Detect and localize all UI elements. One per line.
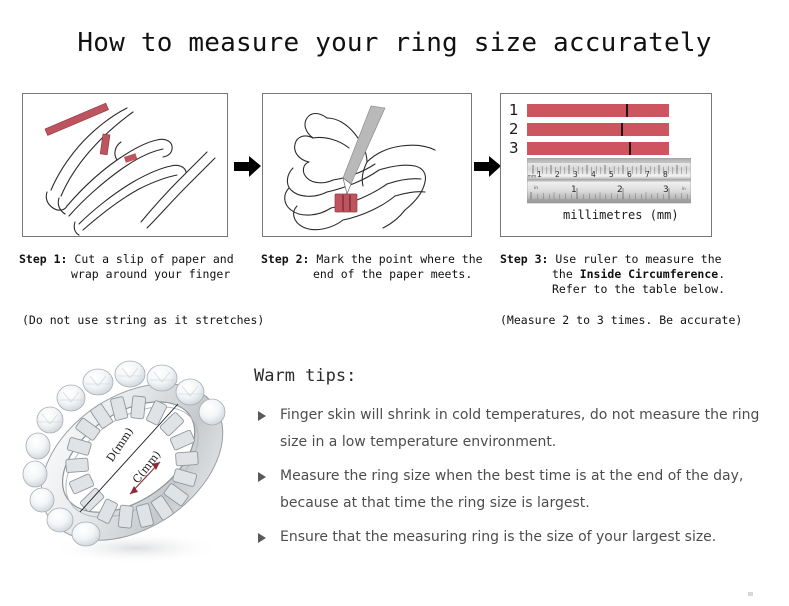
step-1-lead: Step 1: [19,252,67,266]
warm-tips-heading: Warm tips: [254,366,356,386]
millimetres-caption: millimetres (mm) [563,208,679,222]
strip-number-3: 3 [509,139,519,157]
diamond-eternity-ring-icon: placeholder [18,352,246,578]
svg-text:2: 2 [617,185,623,195]
step-3-line-1: Use ruler to measure the [548,252,721,266]
strip-mark-3 [629,142,631,155]
step-3-emphasis: Inside Circumference [580,267,718,281]
svg-text:mm: mm [528,175,537,180]
step-2-illustration-panel [262,93,472,237]
svg-text:4: 4 [591,170,596,179]
tip-text: Ensure that the measuring ring is the si… [280,529,716,545]
tip-text: Finger skin will shrink in cold temperat… [280,407,759,450]
hand-with-pen-icon [263,94,471,236]
ring-diagram: placeholder D(mm) C(mm) [18,352,246,578]
svg-text:3: 3 [663,185,669,195]
strip-mark-1 [626,104,628,117]
step-3-illustration-panel: 1 2 3 [500,93,712,237]
strip-bar-3 [527,142,669,155]
step-3-note: (Measure 2 to 3 times. Be accurate) [500,313,742,327]
step-2-caption: Step 2: Mark the point where theend of t… [261,252,483,282]
step-3-lead: Step 3: [500,252,548,266]
svg-text:8: 8 [663,170,668,179]
step-3-caption: Step 3: Use ruler to measure thethe Insi… [500,252,725,297]
strip-bar-2 [527,123,669,136]
step-1-note: (Do not use string as it stretches) [22,313,264,327]
measured-strip-2: 2 [509,123,669,136]
corner-artifact [748,592,753,596]
step-1-line-2: wrap around your finger [19,267,234,282]
step-1-line-1: Cut a slip of paper and [67,252,233,266]
svg-text:6: 6 [627,170,632,179]
step-2-line-1: Mark the point where the [309,252,482,266]
step-3-line-2-suffix: . [718,267,725,281]
strip-mark-2 [621,123,623,136]
svg-text:5: 5 [609,170,614,179]
strip-number-1: 1 [509,101,519,119]
tip-text: Measure the ring size when the best time… [280,468,743,511]
svg-text:7: 7 [645,170,650,179]
strip-number-2: 2 [509,120,519,138]
step-1-illustration-panel [22,93,228,237]
infographic-page: How to measure your ring size accurately [0,0,789,606]
warm-tips-list: Finger skin will shrink in cold temperat… [256,402,776,558]
tip-item: Ensure that the measuring ring is the si… [256,524,776,551]
svg-text:1: 1 [537,170,542,179]
measured-strip-3: 3 [509,142,669,155]
measured-strip-1: 1 [509,104,669,117]
svg-text:2: 2 [555,170,560,179]
triangle-bullet-icon [258,533,266,543]
tip-item: Finger skin will shrink in cold temperat… [256,402,776,456]
step-2-lead: Step 2: [261,252,309,266]
ruler-icon: 1 2 3 4 5 6 7 8 mm 1 2 3 in in [527,158,691,204]
svg-text:in: in [682,186,686,191]
hand-with-paper-strip-icon [23,94,227,236]
tip-item: Measure the ring size when the best time… [256,463,776,517]
step-2-line-2: end of the paper meets. [261,267,483,282]
step-3-line-2-prefix: the [552,267,580,281]
svg-text:1: 1 [571,185,577,195]
strip-bar-1 [527,104,669,117]
step-3-line-3: Refer to the table below. [500,282,725,297]
page-title: How to measure your ring size accurately [0,28,789,58]
triangle-bullet-icon [258,411,266,421]
step-3-line-2: the Inside Circumference. [500,267,725,282]
triangle-bullet-icon [258,472,266,482]
step-1-caption: Step 1: Cut a slip of paper andwrap arou… [19,252,234,282]
svg-text:3: 3 [573,170,578,179]
svg-text:in: in [534,185,538,191]
